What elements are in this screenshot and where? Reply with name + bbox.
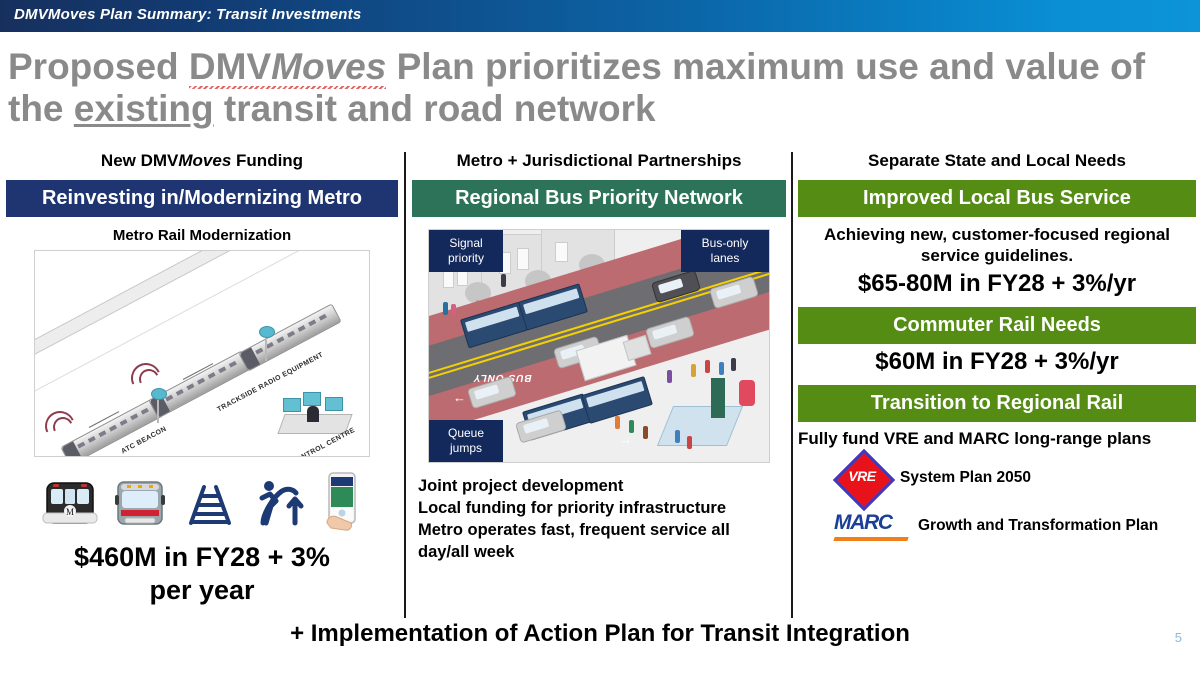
tag-bus-only-lanes: Bus-only lanes xyxy=(681,230,769,272)
column-2-bullets: Joint project development Local funding … xyxy=(418,475,780,564)
beacon-bulb-icon xyxy=(151,388,167,400)
metro-rail-modernization-label: Metro Rail Modernization xyxy=(6,227,398,244)
monitor-icon xyxy=(325,397,343,411)
column-state-local-needs: Separate State and Local Needs Improved … xyxy=(798,152,1196,541)
train-car-1 xyxy=(60,397,163,457)
pedestrian xyxy=(443,302,448,315)
pedestrian xyxy=(615,416,620,429)
vre-logo-row: VRE System Plan 2050 xyxy=(834,455,1196,501)
headline-part3: transit and road network xyxy=(214,88,656,129)
bullet-joint-project: Joint project development xyxy=(418,475,780,497)
tag-queue-jumps: Queue jumps xyxy=(429,420,503,462)
column-1-header-post: Funding xyxy=(231,151,303,170)
footer-text: + Implementation of Action Plan for Tran… xyxy=(0,620,1200,648)
ribbon-title: DMVMoves Plan Summary: Transit Investmen… xyxy=(14,6,361,23)
vre-logo-text: VRE xyxy=(834,468,890,484)
pedestrian xyxy=(643,426,648,439)
column-2-header: Metro + Jurisdictional Partnerships xyxy=(412,152,786,171)
train-nose-icon xyxy=(62,441,82,457)
band-reinvesting-metro: Reinvesting in/Modernizing Metro xyxy=(6,180,398,217)
mobile-app-icon xyxy=(321,471,363,533)
improved-bus-money: $65-80M in FY28 + 3%/yr xyxy=(798,270,1196,298)
car-window xyxy=(716,284,742,299)
headline-part1: Proposed xyxy=(8,46,189,87)
page-title: Proposed DMVMoves Plan prioritizes maxim… xyxy=(8,46,1188,130)
regional-rail-description: Fully fund VRE and MARC long-range plans xyxy=(798,429,1196,449)
beacon-bulb-icon xyxy=(259,326,275,338)
mode-icon-row: M xyxy=(6,469,398,533)
column-3-header: Separate State and Local Needs xyxy=(798,152,1196,171)
operator-figure xyxy=(307,406,319,422)
control-centre-icon xyxy=(277,388,351,434)
vre-caption: System Plan 2050 xyxy=(900,469,1031,487)
column-new-funding: New DMVMoves Funding Reinvesting in/Mode… xyxy=(6,152,398,608)
column-partnerships: Metro + Jurisdictional Partnerships Regi… xyxy=(412,152,786,564)
band-transition-regional-rail: Transition to Regional Rail xyxy=(798,385,1196,422)
slide: DMVMoves Plan Summary: Transit Investmen… xyxy=(0,0,1200,674)
pedestrian xyxy=(675,430,680,443)
money-line-1: $460M in FY28 + 3% xyxy=(6,541,398,575)
money-line-2: per year xyxy=(6,574,398,608)
svg-text:M: M xyxy=(66,507,74,517)
marc-logo-text: MARC xyxy=(834,511,908,535)
pedestrian xyxy=(731,358,736,371)
car-window xyxy=(652,324,678,339)
bus-window xyxy=(586,381,644,407)
metro-rail-modernization-diagram: ATC BEACON TRACKSIDE RADIO EQUIPMENT CON… xyxy=(34,250,370,457)
train-car-2 xyxy=(148,350,251,418)
monitor-icon xyxy=(303,392,321,406)
bus-platform xyxy=(657,406,743,446)
pedestrian xyxy=(451,304,456,317)
pedestrian xyxy=(501,274,506,287)
bus-icon xyxy=(111,475,169,533)
pedestrian xyxy=(667,370,672,383)
column-divider-1 xyxy=(404,152,406,618)
headline-brand-moves: Moves xyxy=(271,46,386,87)
ticket-machine-icon xyxy=(739,380,755,406)
column-1-header-pre: New DMV xyxy=(101,151,178,170)
column-1-money: $460M in FY28 + 3% per year xyxy=(6,541,398,609)
pedestrian xyxy=(691,364,696,377)
window xyxy=(555,242,568,262)
pedestrian xyxy=(705,360,710,373)
marc-caption: Growth and Transformation Plan xyxy=(918,517,1158,535)
page-number: 5 xyxy=(1175,630,1182,645)
pedestrian xyxy=(629,420,634,433)
lane-arrow-icon: ← xyxy=(453,390,466,405)
car-window xyxy=(658,278,684,293)
title-ribbon: DMVMoves Plan Summary: Transit Investmen… xyxy=(0,0,1200,32)
vre-logo-icon: VRE xyxy=(834,455,890,501)
lane-arrow-icon: → xyxy=(619,432,632,447)
rail-track-icon xyxy=(181,475,239,533)
tag-signal-priority: Signal priority xyxy=(429,230,503,272)
marc-logo-bar xyxy=(833,537,908,541)
band-improved-local-bus: Improved Local Bus Service xyxy=(798,180,1196,217)
window xyxy=(517,248,529,270)
marc-logo-row: MARC Growth and Transformation Plan xyxy=(834,511,1196,541)
pedestrian xyxy=(719,362,724,375)
bullet-local-funding: Local funding for priority infrastructur… xyxy=(418,497,780,519)
headline-brand: DMVMoves xyxy=(189,46,386,87)
metro-railcar-icon: M xyxy=(41,475,99,533)
car-window xyxy=(474,384,500,399)
bus-priority-illustration: BUS ONLY ← → xyxy=(428,229,770,463)
escalator-icon xyxy=(251,475,309,533)
marc-logo-icon: MARC xyxy=(834,511,908,541)
band-commuter-rail-needs: Commuter Rail Needs xyxy=(798,307,1196,344)
trackside-beacon-icon xyxy=(157,397,159,423)
headline-brand-dmv: DMV xyxy=(189,46,271,87)
car-window xyxy=(522,418,549,434)
monitor-icon xyxy=(283,398,301,412)
column-1-header: New DMVMoves Funding xyxy=(6,152,398,171)
headline-underlined: existing xyxy=(74,88,214,129)
bullet-metro-operates: Metro operates fast, frequent service al… xyxy=(418,519,780,564)
column-divider-2 xyxy=(791,152,793,618)
improved-bus-description: Achieving new, customer-focused regional… xyxy=(800,224,1194,267)
pedestrian xyxy=(687,436,692,449)
band-regional-bus-priority: Regional Bus Priority Network xyxy=(412,180,786,217)
trackside-radio-icon xyxy=(265,335,267,361)
commuter-rail-money: $60M in FY28 + 3%/yr xyxy=(798,348,1196,376)
column-1-header-italic: Moves xyxy=(178,151,231,170)
train-car-3 xyxy=(238,303,341,371)
shelter-panel xyxy=(711,378,725,418)
